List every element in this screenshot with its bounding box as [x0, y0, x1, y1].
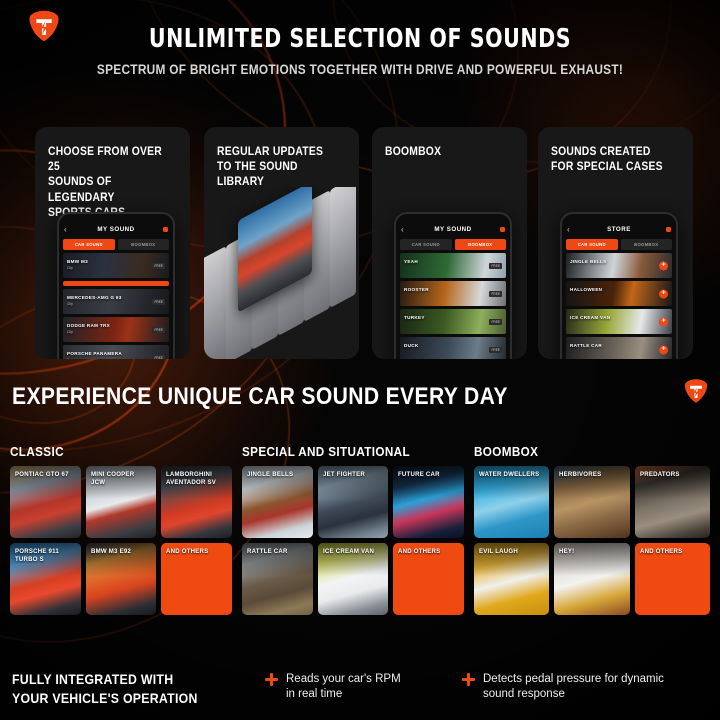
list-item-label: YEAH [404, 259, 418, 264]
list-item-badge: FREE [489, 263, 502, 269]
sound-tile[interactable]: BMW M3 E92 [86, 543, 157, 615]
sound-tile-label: LAMBORGHINI AVENTADOR SV [166, 471, 223, 487]
list-item-sub: City [67, 266, 73, 270]
list-item-badge: FREE [489, 319, 502, 325]
list-item[interactable]: RATTLE CAR + [566, 337, 672, 359]
sound-tile-label: EVIL LAUGH [479, 548, 540, 556]
category-label: SPECIAL AND SITUATIONAL [242, 444, 410, 459]
plus-circle-icon[interactable]: + [659, 261, 668, 270]
tuned-shield-logo-icon [683, 378, 709, 404]
thumbnail [566, 281, 672, 306]
list-item[interactable]: YEAH FREE [400, 253, 506, 278]
sound-tile[interactable]: WATER DWELLERS [474, 466, 549, 538]
list-item-badge: FREE [152, 355, 165, 360]
footer-feature-rpm: Reads your car's RPM in real time [265, 672, 455, 702]
feature-card-title: CHOOSE FROM OVER 25 SOUNDS OF LEGENDARY … [48, 145, 169, 221]
phone-sound-list: YEAH FREE ROOSTER FREE TURKEY FREE [400, 253, 506, 359]
sound-tile-label: JET FIGHTER [323, 471, 380, 479]
plus-circle-icon[interactable]: + [659, 317, 668, 326]
list-item-badge: FREE [152, 299, 165, 305]
feature-card-special-sounds[interactable]: SOUNDS CREATED FOR SPECIAL CASES ‹ STORE… [538, 127, 693, 359]
phone-store-list: JINGLE BELLS + HALLOWEEN + ICE CREAM VAN… [566, 253, 672, 359]
list-item-selected-indicator[interactable] [63, 281, 169, 286]
sound-tile-label: HEY! [559, 548, 620, 556]
phone-navbar: ‹ MY SOUND [396, 222, 510, 237]
feature-cards-row: CHOOSE FROM OVER 25 SOUNDS OF LEGENDARY … [0, 127, 720, 359]
thumbnail [566, 253, 672, 278]
plus-circle-icon[interactable]: + [659, 345, 668, 354]
list-item[interactable]: DUCK FREE [400, 337, 506, 359]
sound-tile-label: PREDATORS [640, 471, 701, 479]
list-item-badge: FREE [489, 291, 502, 297]
list-item-label: ICE CREAM VAN [570, 315, 610, 320]
sound-tile[interactable]: LAMBORGHINI AVENTADOR SV [161, 466, 232, 538]
category-tiles: JINGLE BELLS JET FIGHTER FUTURE CAR RATT… [242, 466, 464, 615]
footer-feature-text: Reads your car's RPM in real time [286, 672, 401, 702]
feature-card-sounds-library[interactable]: CHOOSE FROM OVER 25 SOUNDS OF LEGENDARY … [35, 127, 190, 359]
phone-sound-list: BMW M3 City FREE MERCEDES-AMG G 63 City … [63, 253, 169, 359]
chevron-left-icon[interactable]: ‹ [64, 225, 67, 234]
phone-tab-boombox[interactable]: BOOMBOX [118, 239, 170, 250]
hero-section: UNLIMITED SELECTION OF SOUNDS SPECTRUM O… [0, 0, 720, 112]
sound-tile-label: RATTLE CAR [247, 548, 304, 556]
category-grids: CLASSIC PONTIAC GTO 67 MINI COOPER JCW L… [0, 444, 720, 644]
phone-tab-boombox[interactable]: BOOMBOX [621, 239, 673, 250]
sound-tile[interactable]: PREDATORS [635, 466, 710, 538]
sound-tile-label: FUTURE CAR [398, 471, 455, 479]
sound-tile[interactable]: PONTIAC GTO 67 [10, 466, 81, 538]
list-item-badge: FREE [489, 347, 502, 353]
square-dot-icon[interactable] [163, 227, 168, 232]
thumbnail [566, 337, 672, 359]
list-item[interactable]: MERCEDES-AMG G 63 City FREE [63, 289, 169, 314]
sound-tile[interactable]: RATTLE CAR [242, 543, 313, 615]
list-item[interactable]: TURKEY FREE [400, 309, 506, 334]
sound-tile-label: AND OTHERS [398, 548, 455, 556]
phone-navbar: ‹ MY SOUND [59, 222, 173, 237]
plus-icon [265, 673, 278, 686]
list-item[interactable]: ROOSTER FREE [400, 281, 506, 306]
sound-tile-label: BMW M3 E92 [91, 548, 148, 556]
list-item[interactable]: ICE CREAM VAN + [566, 309, 672, 334]
stack-sheet [204, 246, 226, 359]
list-item-label: TURKEY [404, 315, 425, 320]
list-item-label: BMW M3 [67, 259, 88, 264]
phone-tab-car-sound[interactable]: CAR SOUND [566, 239, 618, 250]
phone-notch [431, 215, 474, 222]
sound-tile[interactable]: HEY! [554, 543, 629, 615]
sound-tile-label: WATER DWELLERS [479, 471, 540, 479]
list-item-label: RATTLE CAR [570, 343, 602, 348]
feature-card-title: SOUNDS CREATED FOR SPECIAL CASES [551, 145, 672, 175]
page-subtitle: SPECTRUM OF BRIGHT EMOTIONS TOGETHER WIT… [43, 62, 677, 77]
footer-feature-pedal: Detects pedal pressure for dynamic sound… [462, 672, 712, 702]
phone-tabs: CAR SOUND BOOMBOX [63, 239, 169, 250]
sound-tile[interactable]: JET FIGHTER [318, 466, 389, 538]
list-item-label: PORSCHE PANAMERA [67, 351, 122, 356]
list-item[interactable]: PORSCHE PANAMERA Sport FREE [63, 345, 169, 359]
stack-sheet [330, 187, 356, 308]
sound-tile-label: AND OTHERS [640, 548, 701, 556]
sound-tile-more[interactable]: AND OTHERS [635, 543, 710, 615]
list-item-badge: FREE [152, 263, 165, 269]
plus-icon [462, 673, 475, 686]
category-label: CLASSIC [10, 444, 64, 459]
sound-tile[interactable]: HERBIVORES [554, 466, 629, 538]
phone-tabs: CAR SOUND BOOMBOX [400, 239, 506, 250]
promo-page: UNLIMITED SELECTION OF SOUNDS SPECTRUM O… [0, 0, 720, 720]
list-item[interactable]: DODGE RAM TRX City FREE [63, 317, 169, 342]
feature-card-regular-updates[interactable]: REGULAR UPDATES TO THE SOUND LIBRARY [204, 127, 359, 359]
card-stack-mockup [204, 187, 359, 359]
thumbnail [566, 309, 672, 334]
section-title-experience: EXPERIENCE UNIQUE CAR SOUND EVERY DAY [12, 383, 508, 411]
feature-card-boombox[interactable]: BOOMBOX ‹ MY SOUND CAR SOUND BOOMBOX YE [372, 127, 527, 359]
feature-card-title: BOOMBOX [385, 145, 506, 160]
category-label: BOOMBOX [474, 444, 538, 459]
phone-mockup-boombox: ‹ MY SOUND CAR SOUND BOOMBOX YEAH FREE [394, 212, 512, 359]
sound-tile-more[interactable]: AND OTHERS [393, 543, 464, 615]
square-dot-icon[interactable] [500, 227, 505, 232]
phone-tab-boombox[interactable]: BOOMBOX [455, 239, 507, 250]
sound-tile[interactable]: FUTURE CAR [393, 466, 464, 538]
phone-notch [94, 215, 137, 222]
footer-title: FULLY INTEGRATED WITH YOUR VEHICLE'S OPE… [12, 670, 198, 709]
page-title: UNLIMITED SELECTION OF SOUNDS [43, 24, 677, 54]
phone-nav-title: STORE [607, 226, 631, 233]
sound-tile-label: ICE CREAM VAN [323, 548, 380, 556]
chevron-left-icon[interactable]: ‹ [567, 225, 570, 234]
sound-tile-label: PONTIAC GTO 67 [15, 471, 72, 479]
category-tiles: PONTIAC GTO 67 MINI COOPER JCW LAMBORGHI… [10, 466, 232, 615]
sound-tile[interactable]: PORSCHE 911 TURBO S [10, 543, 81, 615]
category-tiles: WATER DWELLERS HERBIVORES PREDATORS EVIL… [474, 466, 710, 615]
phone-notch [597, 215, 640, 222]
sound-tile[interactable]: ICE CREAM VAN [318, 543, 389, 615]
feature-card-title: REGULAR UPDATES TO THE SOUND LIBRARY [217, 145, 338, 191]
list-item-label: HALLOWEEN [570, 287, 602, 292]
list-item[interactable]: JINGLE BELLS + [566, 253, 672, 278]
phone-tab-car-sound[interactable]: CAR SOUND [400, 239, 452, 250]
phone-mockup-store: ‹ STORE CAR SOUND BOOMBOX JINGLE BELLS + [560, 212, 678, 359]
phone-nav-title: MY SOUND [97, 226, 134, 233]
phone-mockup-my-sound: ‹ MY SOUND CAR SOUND BOOMBOX BMW M3 City… [57, 212, 175, 359]
sound-tile-label: JINGLE BELLS [247, 471, 304, 479]
list-item-label: ROOSTER [404, 287, 429, 292]
list-item-sub: City [67, 330, 73, 334]
list-item-label: JINGLE BELLS [570, 259, 607, 264]
list-item-label: DUCK [404, 343, 418, 348]
sound-tile[interactable]: MINI COOPER JCW [86, 466, 157, 538]
footer-section: FULLY INTEGRATED WITH YOUR VEHICLE'S OPE… [0, 650, 720, 720]
phone-nav-title: MY SOUND [434, 226, 471, 233]
sound-tile-label: PORSCHE 911 TURBO S [15, 548, 72, 564]
list-item-sub: Sport [67, 358, 75, 359]
footer-feature-text: Detects pedal pressure for dynamic sound… [483, 672, 664, 702]
sound-tile[interactable]: JINGLE BELLS [242, 466, 313, 538]
list-item-sub: City [67, 302, 73, 306]
phone-tabs: CAR SOUND BOOMBOX [566, 239, 672, 250]
chevron-left-icon[interactable]: ‹ [401, 225, 404, 234]
phone-navbar: ‹ STORE [562, 222, 676, 237]
phone-tab-car-sound[interactable]: CAR SOUND [63, 239, 115, 250]
list-item-label: MERCEDES-AMG G 63 [67, 295, 122, 300]
sound-tile-more[interactable]: AND OTHERS [161, 543, 232, 615]
plus-circle-icon[interactable]: + [659, 289, 668, 298]
sound-tile-label: AND OTHERS [166, 548, 223, 556]
sound-tile-label: HERBIVORES [559, 471, 620, 479]
square-dot-icon[interactable] [666, 227, 671, 232]
sound-tile[interactable]: EVIL LAUGH [474, 543, 549, 615]
sound-tile-label: MINI COOPER JCW [91, 471, 148, 487]
list-item[interactable]: BMW M3 City FREE [63, 253, 169, 278]
list-item[interactable]: HALLOWEEN + [566, 281, 672, 306]
list-item-label: DODGE RAM TRX [67, 323, 110, 328]
list-item-badge: FREE [152, 327, 165, 333]
